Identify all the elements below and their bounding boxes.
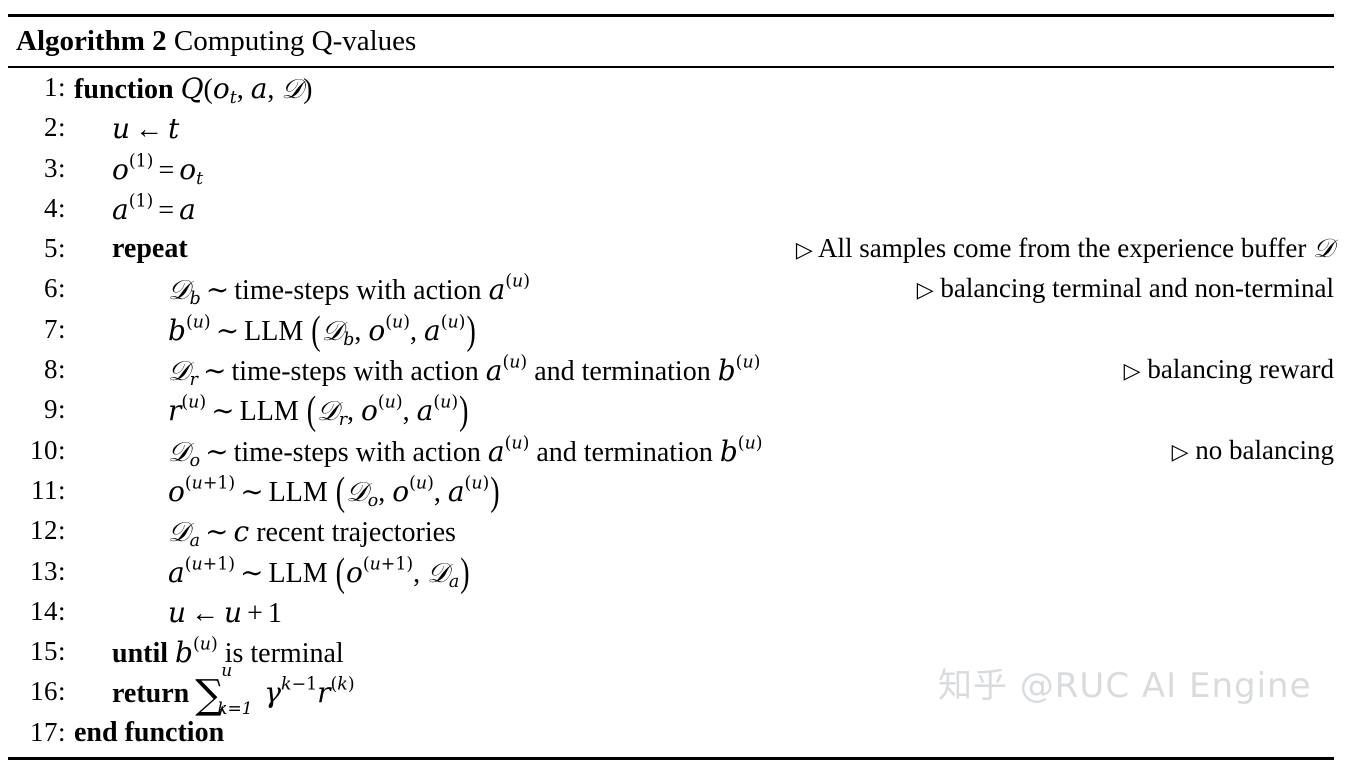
line-number: 4: (8, 193, 66, 224)
line-statement: 𝒟o∼time-steps with action a(u) and termi… (168, 435, 763, 469)
comment-text: balancing reward (1147, 354, 1334, 384)
comment-text: balancing terminal and non-terminal (940, 273, 1334, 303)
algorithm-line: 11: o(u+1)∼LLM (𝒟o, o(u), a(u)) (8, 475, 1334, 515)
keyword-until: until (112, 638, 168, 669)
watermark: 知乎 @RUC AI Engine (938, 658, 1312, 707)
line-statement: o(1)=ot (112, 153, 203, 187)
algorithm-line: 14: u←u+1 (8, 596, 1334, 636)
line-statement: end function (74, 717, 224, 749)
line-number: 17: (8, 717, 66, 748)
line-statement: r(u)∼LLM (𝒟r, o(u), a(u)) (168, 394, 469, 428)
algorithm-line: 8: 𝒟r∼time-steps with action a(u) and te… (8, 354, 1334, 394)
line-statement: return∑uk=1γk−1r(k) (112, 676, 355, 711)
line-comment: ▷ no balancing (1172, 435, 1334, 466)
comment-text: no balancing (1195, 435, 1334, 465)
algorithm-line: 2: u←t (8, 112, 1334, 152)
algorithm-line: 1: function Q(ot, a, 𝒟) (8, 72, 1334, 112)
line-statement: o(u+1)∼LLM (𝒟o, o(u), a(u)) (168, 475, 501, 509)
line-number: 5: (8, 233, 66, 264)
algorithm-lines: 1: function Q(ot, a, 𝒟) 2: u←t 3: o(1)=o… (8, 68, 1334, 757)
line-statement: a(1)=a (112, 193, 196, 227)
algorithm-line: 9: r(u)∼LLM (𝒟r, o(u), a(u)) (8, 394, 1334, 434)
keyword-repeat: repeat (112, 233, 188, 264)
algorithm-line: 5: repeat ▷ All samples come from the ex… (8, 233, 1334, 273)
line-comment: ▷ All samples come from the experience b… (796, 233, 1334, 265)
phrase-llm: LLM (269, 477, 328, 508)
line-statement: 𝒟r∼time-steps with action a(u) and termi… (168, 354, 760, 388)
algorithm-line: 6: 𝒟b∼time-steps with action a(u) ▷ bala… (8, 273, 1334, 313)
line-number: 11: (8, 475, 66, 506)
phrase-time-steps: time-steps with action (234, 275, 481, 306)
line-number: 7: (8, 314, 66, 345)
algorithm-line: 4: a(1)=a (8, 193, 1334, 233)
line-number: 12: (8, 515, 66, 546)
line-number: 6: (8, 273, 66, 304)
line-number: 8: (8, 354, 66, 385)
line-number: 15: (8, 636, 66, 667)
phrase-llm: LLM (240, 396, 299, 427)
line-comment: ▷ balancing terminal and non-terminal (917, 273, 1334, 304)
line-comment: ▷ balancing reward (1124, 354, 1334, 385)
line-statement: repeat (112, 233, 188, 265)
algorithm-block: Algorithm 2 Computing Q-values 1: functi… (8, 0, 1334, 749)
phrase-is-terminal: is terminal (225, 638, 344, 669)
comment-text: All samples come from the experience buf… (818, 233, 1306, 263)
line-number: 3: (8, 153, 66, 184)
line-statement: function Q(ot, a, 𝒟) (74, 72, 312, 106)
phrase-llm: LLM (269, 558, 328, 589)
line-statement: b(u)∼LLM (𝒟b, o(u), a(u)) (168, 314, 477, 348)
line-statement: 𝒟b∼time-steps with action a(u) (168, 273, 530, 307)
keyword-function: function (74, 74, 174, 105)
line-number: 14: (8, 596, 66, 627)
phrase-and-termination: and termination (534, 356, 711, 387)
algorithm-title-label: Algorithm 2 (16, 25, 167, 57)
algorithm-line: 10: 𝒟o∼time-steps with action a(u) and t… (8, 435, 1334, 475)
line-number: 2: (8, 112, 66, 143)
line-statement: u←t (112, 112, 179, 146)
phrase-time-steps: time-steps with action (231, 356, 478, 387)
keyword-end-function: end function (74, 717, 224, 748)
phrase-recent-trajectories: recent trajectories (256, 517, 456, 548)
algorithm-line: 12: 𝒟a∼c recent trajectories (8, 515, 1334, 555)
phrase-and-termination: and termination (536, 437, 713, 468)
algorithm-line: 17: end function (8, 717, 1334, 757)
algorithm-line: 7: b(u)∼LLM (𝒟b, o(u), a(u)) (8, 314, 1334, 354)
phrase-time-steps: time-steps with action (234, 437, 481, 468)
algorithm-title-text: Computing Q-values (174, 25, 416, 57)
line-number: 10: (8, 435, 66, 466)
algorithm-line: 13: a(u+1)∼LLM (o(u+1), 𝒟a) (8, 556, 1334, 596)
summation-symbol: ∑uk=1 (195, 681, 261, 711)
keyword-return: return (112, 678, 189, 709)
line-number: 1: (8, 72, 66, 103)
line-number: 9: (8, 394, 66, 425)
algorithm-line: 3: o(1)=ot (8, 153, 1334, 193)
algorithm-title: Algorithm 2 Computing Q-values (8, 17, 1334, 66)
line-number: 13: (8, 556, 66, 587)
line-statement: a(u+1)∼LLM (o(u+1), 𝒟a) (168, 556, 471, 590)
line-statement: 𝒟a∼c recent trajectories (168, 515, 456, 549)
line-number: 16: (8, 676, 66, 707)
phrase-llm: LLM (244, 316, 303, 347)
line-statement: u←u+1 (168, 596, 282, 630)
